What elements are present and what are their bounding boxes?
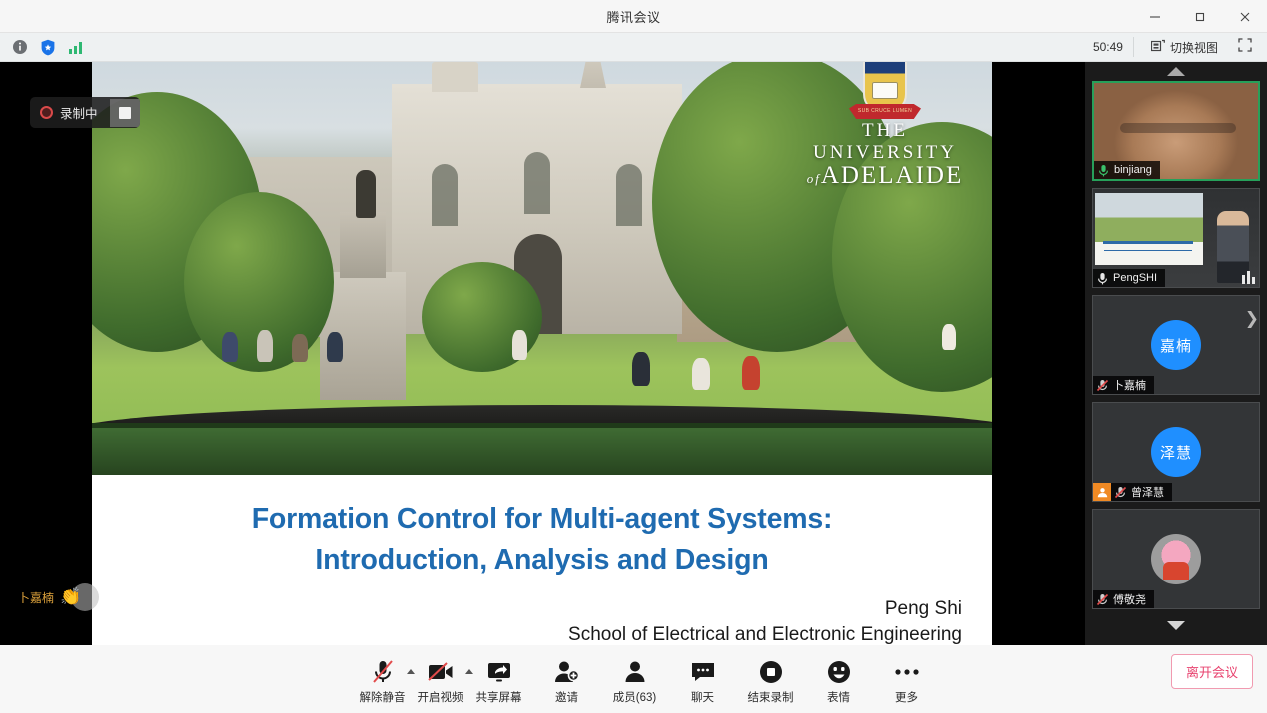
toolbar-items: 解除静音 开启视频 共享屏幕 邀请 bbox=[327, 653, 941, 705]
toolbar-label: 解除静音 bbox=[360, 689, 406, 705]
person-on-lawn bbox=[742, 356, 760, 390]
stop-record-icon bbox=[759, 657, 783, 687]
shared-slide: SUB CRUCE LUMEN THE UNIVERSITY ofADELAID… bbox=[92, 62, 992, 645]
toolbar-chat-button[interactable]: 聊天 bbox=[669, 653, 737, 705]
title-bar: 腾讯会议 bbox=[0, 0, 1267, 33]
presenter-slide-thumb bbox=[1095, 193, 1203, 265]
mic-muted-icon bbox=[1093, 593, 1112, 606]
participant-name: 曾泽慧 bbox=[1130, 484, 1172, 500]
window-controls bbox=[1132, 0, 1267, 33]
stage-lights bbox=[1242, 271, 1255, 284]
network-signal-icon[interactable] bbox=[67, 38, 85, 56]
collapse-sidebar-chevron-icon[interactable]: ❯ bbox=[1245, 310, 1259, 327]
adelaide-logo: SUB CRUCE LUMEN THE UNIVERSITY ofADELAID… bbox=[790, 62, 980, 190]
avatar-image bbox=[1151, 534, 1201, 584]
slide-title-line-2: Introduction, Analysis and Design bbox=[122, 540, 962, 581]
host-badge-icon bbox=[1093, 483, 1111, 501]
logo-line-2: ofADELAIDE bbox=[790, 162, 980, 190]
mic-on-icon bbox=[1094, 164, 1113, 177]
participant-name: 傅敬尧 bbox=[1112, 591, 1154, 607]
fullscreen-icon bbox=[1238, 38, 1252, 57]
recording-status: 录制中 bbox=[30, 97, 110, 128]
more-dots-icon bbox=[894, 657, 920, 687]
chat-bubble-icon bbox=[690, 657, 716, 687]
toolbar-more-button[interactable]: 更多 bbox=[873, 653, 941, 705]
close-button[interactable] bbox=[1222, 0, 1267, 33]
emoji-smile-icon bbox=[827, 657, 851, 687]
slide-photo: SUB CRUCE LUMEN THE UNIVERSITY ofADELAID… bbox=[92, 62, 992, 475]
person-on-lawn bbox=[257, 330, 273, 362]
statue-figure bbox=[356, 170, 376, 218]
mic-muted-icon bbox=[1111, 486, 1130, 499]
mic-muted-icon bbox=[1093, 379, 1112, 392]
participant-name: PengSHI bbox=[1112, 272, 1165, 284]
fullscreen-button[interactable] bbox=[1229, 34, 1261, 61]
record-dot-icon bbox=[40, 106, 53, 119]
invite-person-icon bbox=[554, 657, 580, 687]
participant-tile-bujianan[interactable]: 嘉楠 卜嘉楠 bbox=[1092, 295, 1260, 395]
tile-footer: PengSHI bbox=[1093, 269, 1165, 287]
tencent-meeting-window: 腾讯会议 50:49 bbox=[0, 0, 1267, 713]
toolbar-emoji-button[interactable]: 表情 bbox=[805, 653, 873, 705]
toolbar-label: 邀请 bbox=[555, 689, 578, 705]
person-on-lawn bbox=[512, 330, 527, 360]
camera-off-icon bbox=[427, 657, 455, 687]
crest-motto: SUB CRUCE LUMEN bbox=[849, 104, 921, 119]
toolbar-label: 共享屏幕 bbox=[476, 689, 522, 705]
logo-line-1: THE UNIVERSITY bbox=[790, 120, 980, 164]
mic-muted-icon bbox=[371, 657, 395, 687]
scroll-up-arrow-icon[interactable] bbox=[1167, 62, 1185, 81]
avatar: 嘉楠 bbox=[1151, 320, 1201, 370]
participant-sidebar: binjiang PengSHI 嘉楠 bbox=[1085, 62, 1267, 645]
slide-title-line-1: Formation Control for Multi-agent System… bbox=[122, 499, 962, 540]
slide-affiliation: School of Electrical and Electronic Engi… bbox=[122, 624, 962, 646]
person-on-lawn bbox=[222, 332, 238, 362]
reaction-user-name: 卜嘉楠 bbox=[18, 589, 54, 606]
participant-tile-zengzehui[interactable]: 泽慧 曾泽慧 bbox=[1092, 402, 1260, 502]
scroll-down-arrow-icon[interactable] bbox=[1167, 616, 1185, 635]
building-spire bbox=[580, 62, 606, 88]
toolbar-label: 成员(63) bbox=[613, 689, 656, 705]
person-on-lawn bbox=[692, 358, 710, 390]
tile-footer: 卜嘉楠 bbox=[1093, 376, 1154, 394]
logo-adelaide-word: ADELAIDE bbox=[821, 162, 963, 189]
logo-of-word: of bbox=[807, 171, 821, 186]
recording-indicator[interactable]: 录制中 bbox=[30, 97, 140, 128]
stop-recording-button[interactable] bbox=[110, 99, 140, 127]
person-on-lawn bbox=[327, 332, 343, 362]
slide-author: Peng Shi bbox=[122, 598, 962, 620]
participant-tile-binjiang[interactable]: binjiang bbox=[1092, 81, 1260, 181]
info-icon[interactable] bbox=[11, 38, 29, 56]
minimize-button[interactable] bbox=[1132, 0, 1177, 33]
tile-footer: 曾泽慧 bbox=[1093, 483, 1172, 501]
stop-square-icon bbox=[119, 107, 131, 119]
tile-footer: 傅敬尧 bbox=[1093, 590, 1154, 608]
statue-column bbox=[340, 212, 386, 278]
toolbar-label: 聊天 bbox=[691, 689, 714, 705]
switch-view-label: 切换视图 bbox=[1170, 39, 1218, 56]
toolbar-label: 结束录制 bbox=[748, 689, 794, 705]
toolbar-label: 表情 bbox=[827, 689, 850, 705]
person-on-lawn bbox=[292, 334, 308, 362]
window-title: 腾讯会议 bbox=[606, 7, 660, 26]
participant-tile-pengshi[interactable]: PengSHI bbox=[1092, 188, 1260, 288]
toolbar-stop-record-button[interactable]: 结束录制 bbox=[737, 653, 805, 705]
tile-footer: binjiang bbox=[1094, 161, 1160, 179]
meeting-toolbar: 解除静音 开启视频 共享屏幕 邀请 bbox=[0, 645, 1267, 713]
toolbar-label: 开启视频 bbox=[418, 689, 464, 705]
clap-emoji-icon: 👏 bbox=[60, 587, 81, 607]
participant-tile-fujingyao[interactable]: 傅敬尧 bbox=[1092, 509, 1260, 609]
toolbar-invite-button[interactable]: 邀请 bbox=[533, 653, 601, 705]
participant-name: 卜嘉楠 bbox=[1112, 377, 1154, 393]
status-right-controls: 50:49 切换视图 bbox=[1083, 34, 1267, 61]
slide-text-block: Formation Control for Multi-agent System… bbox=[92, 475, 992, 646]
meeting-status-bar: 50:49 切换视图 bbox=[0, 33, 1267, 62]
crest-icon: SUB CRUCE LUMEN bbox=[863, 62, 907, 114]
participant-name: binjiang bbox=[1113, 164, 1160, 176]
building-window bbox=[616, 164, 642, 226]
share-screen-icon bbox=[485, 657, 513, 687]
hedge-row bbox=[92, 423, 992, 475]
person-on-lawn bbox=[632, 352, 650, 386]
building-window bbox=[524, 152, 550, 214]
meeting-timer: 50:49 bbox=[1083, 37, 1134, 57]
building-window bbox=[432, 164, 458, 226]
pig-body bbox=[1163, 562, 1189, 580]
person-on-lawn bbox=[942, 324, 956, 350]
leave-meeting-button[interactable]: 离开会议 bbox=[1171, 654, 1253, 689]
maximize-button[interactable] bbox=[1177, 0, 1222, 33]
status-icons bbox=[0, 38, 85, 56]
slide-title: Formation Control for Multi-agent System… bbox=[122, 499, 962, 582]
toolbar-participants-button[interactable]: 成员(63) bbox=[601, 653, 669, 705]
encryption-shield-icon[interactable] bbox=[39, 38, 57, 56]
recording-label: 录制中 bbox=[60, 103, 98, 122]
participants-icon bbox=[623, 657, 647, 687]
reaction-badge: 卜嘉楠 👏 bbox=[18, 583, 99, 611]
avatar: 泽慧 bbox=[1151, 427, 1201, 477]
mic-on-icon bbox=[1093, 272, 1112, 285]
switch-view-button[interactable]: 切换视图 bbox=[1142, 35, 1227, 60]
toolbar-share-screen-button[interactable]: 共享屏幕 bbox=[465, 653, 533, 705]
layout-switch-icon bbox=[1151, 39, 1165, 56]
crest-book-icon bbox=[872, 82, 898, 99]
toolbar-label: 更多 bbox=[895, 689, 918, 705]
